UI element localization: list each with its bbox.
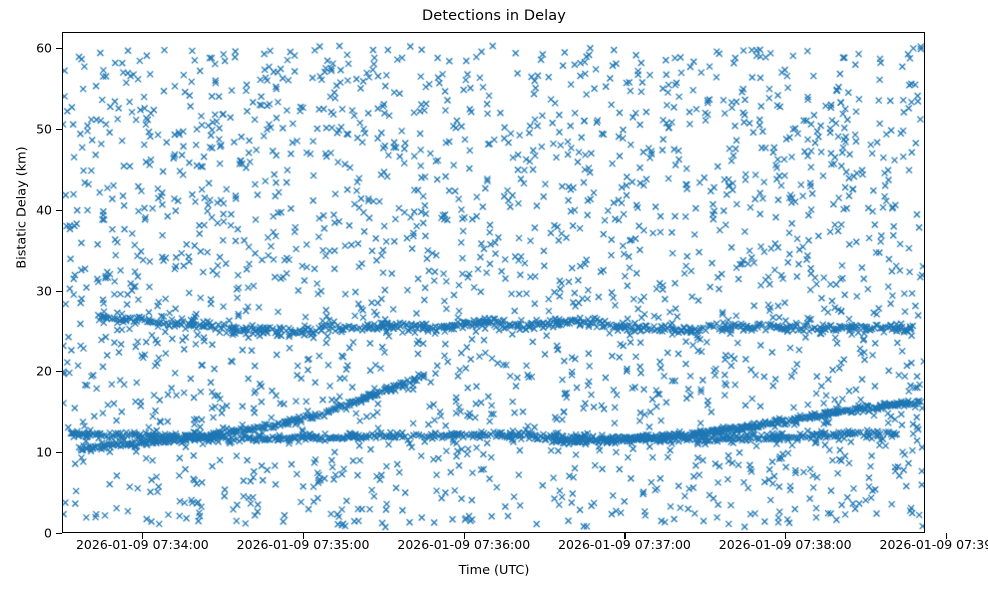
y-tick-label: 50 [6,121,52,136]
x-tick-label: 2026-01-09 07:39:00 [880,537,988,552]
x-tick-label: 2026-01-09 07:35:00 [237,537,370,552]
y-tick-mark [56,533,62,534]
x-tick-mark [303,533,304,539]
y-tick-label: 10 [6,445,52,460]
x-axis-ticklabels: 2026-01-09 07:34:002026-01-09 07:35:0020… [0,537,988,561]
figure-canvas: Detections in Delay Bistatic Delay (km) … [0,0,988,590]
y-tick-label: 60 [6,41,52,56]
scatter-plot [63,33,924,532]
x-axis-title: Time (UTC) [0,563,988,578]
y-tick-mark [56,48,62,49]
x-tick-label: 2026-01-09 07:38:00 [719,537,852,552]
x-tick-mark [946,533,947,539]
plot-area [62,32,925,533]
x-tick-label: 2026-01-09 07:37:00 [558,537,691,552]
page-title: Detections in Delay [0,8,988,24]
y-tick-label: 30 [6,283,52,298]
y-tick-mark [56,291,62,292]
x-tick-mark [624,533,625,539]
y-tick-mark [56,210,62,211]
y-tick-label: 20 [6,364,52,379]
y-tick-mark [56,452,62,453]
y-tick-mark [56,129,62,130]
x-tick-mark [142,533,143,539]
y-tick-label: 40 [6,202,52,217]
x-tick-label: 2026-01-09 07:36:00 [397,537,530,552]
x-tick-mark [785,533,786,539]
y-tick-mark [56,371,62,372]
x-tick-mark [464,533,465,539]
x-tick-label: 2026-01-09 07:34:00 [76,537,209,552]
y-axis-ticklabels: 0102030405060 [0,32,52,533]
